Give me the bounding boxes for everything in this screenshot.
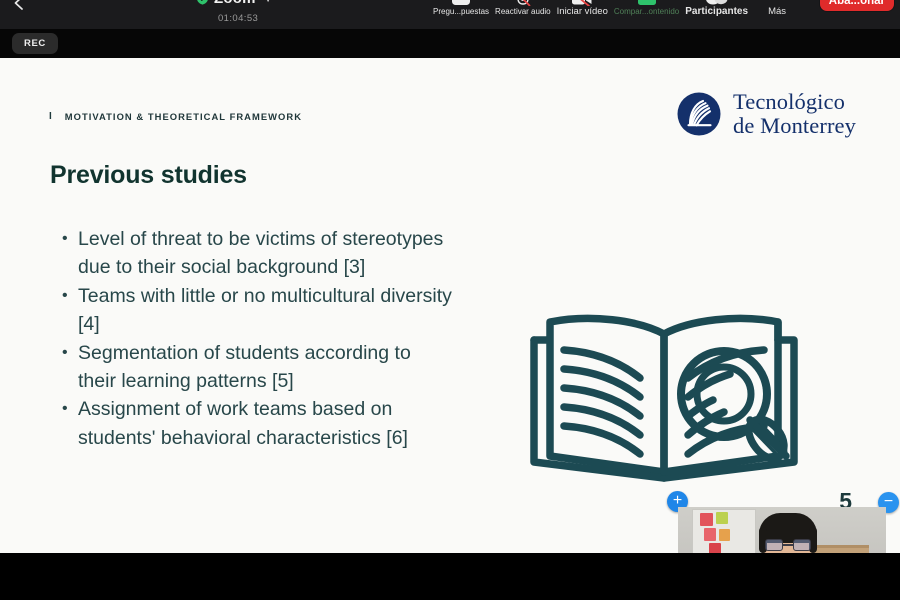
logo-line-1: Tecnológico	[733, 89, 845, 114]
bullet-marker: •	[62, 395, 78, 423]
institution-logo: Tecnológico de Monterrey	[676, 90, 856, 137]
app-name-label: Zoom	[214, 0, 256, 7]
sticky-note	[704, 528, 716, 541]
kicker-mark: I	[49, 111, 52, 122]
participant-glasses	[765, 539, 811, 551]
leave-meeting-button[interactable]: Aba...onar	[820, 0, 894, 11]
toolbar-label: Iniciar vídeo	[557, 7, 608, 17]
qa-icon	[451, 0, 471, 6]
glasses-bridge	[783, 544, 793, 546]
zoom-top-toolbar: Zoom ▼ 01:04:53 Pregu...puestas	[0, 0, 900, 29]
back-chevron-icon[interactable]	[10, 0, 28, 12]
sticky-note	[716, 512, 728, 524]
logo-line-2: de Monterrey	[733, 113, 856, 138]
toolbar-label: Compar...ontenido	[614, 7, 679, 17]
list-item: • Level of threat to be victims of stere…	[62, 225, 452, 282]
chevron-down-icon[interactable]: ▼	[264, 0, 273, 4]
meeting-title-group[interactable]: Zoom ▼	[196, 0, 273, 7]
toolbar-label: Más	[768, 7, 786, 17]
bullet-text: Teams with little or no multicultural di…	[78, 282, 452, 339]
bullet-text: Level of threat to be victims of stereot…	[78, 225, 452, 282]
toolbar-item-share-screen[interactable]: Compar...ontenido	[611, 0, 682, 17]
glasses-lens	[793, 539, 811, 551]
logo-text: Tecnológico de Monterrey	[733, 90, 856, 137]
toolbar-actions: Pregu...puestas Reactivar audio	[430, 0, 789, 17]
bottom-letterbox-bar	[0, 553, 900, 600]
bullet-marker: •	[62, 282, 78, 310]
recording-band	[0, 29, 900, 58]
share-screen-icon	[636, 0, 658, 6]
bullet-marker: •	[62, 225, 78, 253]
tec-monterrey-logo-icon	[676, 91, 722, 137]
slide-bullet-list: • Level of threat to be victims of stere…	[62, 225, 452, 452]
toolbar-item-more[interactable]: Más	[765, 0, 789, 17]
encryption-shield-icon	[196, 0, 209, 5]
slide-title: Previous studies	[50, 161, 247, 190]
toolbar-label: Pregu...puestas	[433, 7, 489, 17]
toolbar-label: Participantes	[685, 7, 748, 17]
meeting-timer: 01:04:53	[218, 13, 258, 24]
list-item: • Assignment of work teams based on stud…	[62, 395, 452, 452]
list-item: • Segmentation of students according to …	[62, 339, 452, 396]
microphone-muted-icon	[514, 0, 532, 6]
zoom-meeting-window: Zoom ▼ 01:04:53 Pregu...puestas	[0, 0, 900, 600]
sticky-note	[719, 529, 730, 541]
bullet-text: Assignment of work teams based on studen…	[78, 395, 452, 452]
shared-slide: I MOTIVATION & THEORETICAL FRAMEWORK Pre…	[0, 58, 900, 553]
bullet-text: Segmentation of students according to th…	[78, 339, 452, 396]
toolbar-item-start-video[interactable]: Iniciar vídeo	[554, 0, 611, 17]
open-book-with-magnifier-icon	[528, 306, 800, 498]
glasses-lens	[765, 539, 783, 551]
slide-section-kicker: I MOTIVATION & THEORETICAL FRAMEWORK	[49, 111, 302, 122]
recording-badge: REC	[12, 33, 58, 54]
kicker-label: MOTIVATION & THEORETICAL FRAMEWORK	[65, 111, 302, 122]
toolbar-item-unmute[interactable]: Reactivar audio	[492, 0, 554, 17]
toolbar-item-participants[interactable]: Participantes	[682, 0, 751, 17]
sticky-note	[700, 513, 713, 526]
bullet-marker: •	[62, 339, 78, 367]
toolbar-label: Reactivar audio	[495, 7, 551, 17]
toolbar-item-qa[interactable]: Pregu...puestas	[430, 0, 492, 17]
list-item: • Teams with little or no multicultural …	[62, 282, 452, 339]
